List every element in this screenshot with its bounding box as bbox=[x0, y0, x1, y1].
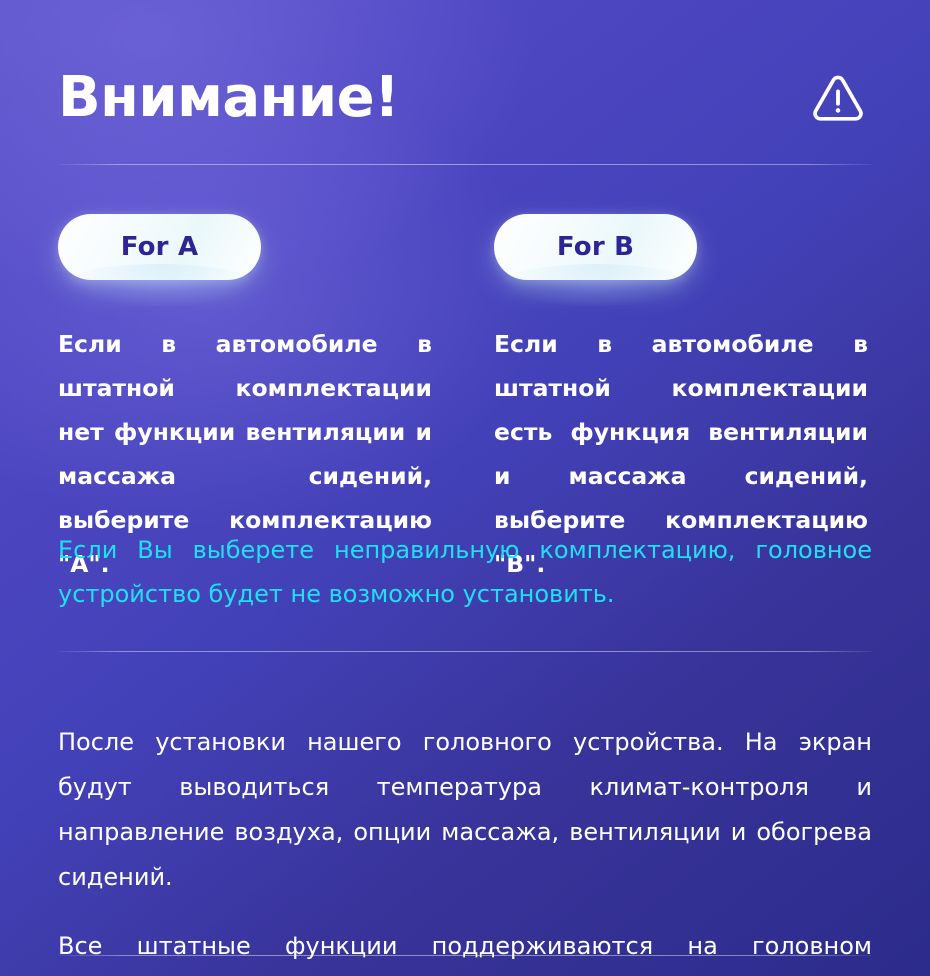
divider-middle bbox=[58, 651, 872, 652]
divider-bottom bbox=[58, 955, 872, 956]
poster-header: Внимание! bbox=[58, 56, 872, 140]
warning-poster: Внимание! For A Если в автомобиле в штат… bbox=[0, 0, 930, 976]
page-title: Внимание! bbox=[58, 70, 399, 126]
divider-top bbox=[58, 164, 872, 165]
pill-for-b[interactable]: For B bbox=[494, 214, 697, 280]
bottom-paragraph-2: Все штатные функции поддерживаются на го… bbox=[58, 924, 872, 976]
pill-for-a-label: For A bbox=[121, 232, 199, 262]
pill-for-b-label: For B bbox=[557, 232, 634, 262]
cyan-warning-note: Если Вы выберете неправильную комплектац… bbox=[58, 528, 872, 616]
bottom-paragraph-1: После установки нашего головного устройс… bbox=[58, 720, 872, 900]
pill-for-a[interactable]: For A bbox=[58, 214, 261, 280]
bottom-info-block: После установки нашего головного устройс… bbox=[58, 696, 872, 976]
warning-triangle-icon bbox=[810, 70, 866, 126]
